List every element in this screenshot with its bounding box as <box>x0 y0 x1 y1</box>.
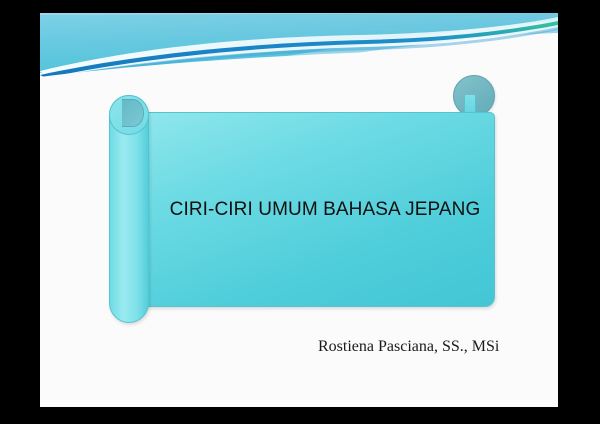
slide-frame: CIRI-CIRI UMUM BAHASA JEPANG Rostiena Pa… <box>0 0 600 424</box>
wave-layer-cyan <box>40 13 558 74</box>
horizontal-scroll-banner: CIRI-CIRI UMUM BAHASA JEPANG <box>98 87 508 327</box>
author-line: Rostiena Pasciana, SS., MSi <box>318 338 518 356</box>
wave-accent-blue <box>40 21 558 78</box>
wave-accent-light <box>40 27 558 81</box>
slide-title: CIRI-CIRI UMUM BAHASA JEPANG <box>158 199 481 221</box>
scroll-curl-left-inner <box>122 99 144 127</box>
wave-layer-pale <box>40 13 558 71</box>
wave-layer-white <box>40 17 558 77</box>
slide-title-container: CIRI-CIRI UMUM BAHASA JEPANG <box>143 112 495 307</box>
presentation-slide: CIRI-CIRI UMUM BAHASA JEPANG Rostiena Pa… <box>40 13 558 407</box>
author-name: Rostiena Pasciana, SS., MSi <box>318 338 499 355</box>
